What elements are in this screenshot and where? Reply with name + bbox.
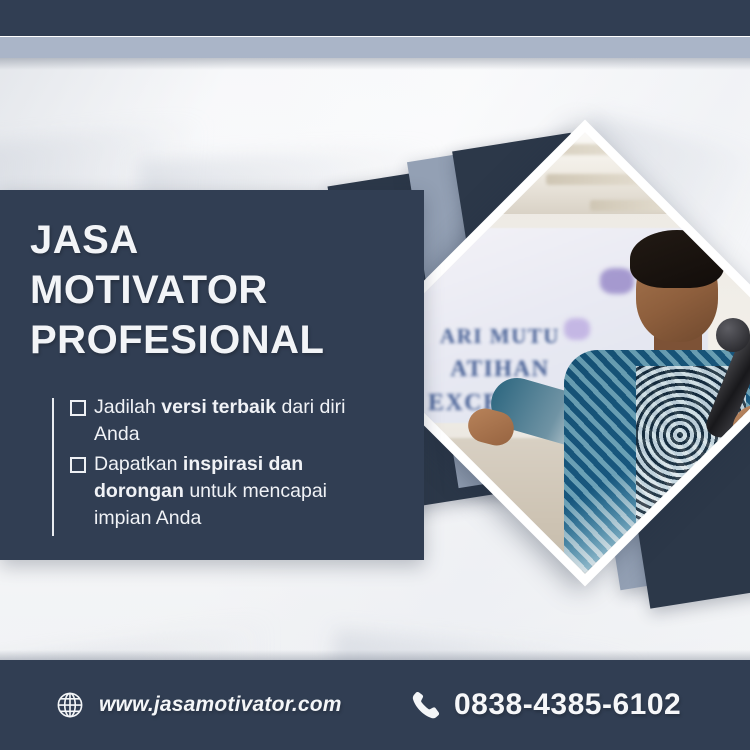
globe-icon xyxy=(55,690,85,720)
list-item-text: Dapatkan inspirasi dan dorongan untuk me… xyxy=(94,451,370,532)
phone-number[interactable]: 0838-4385-6102 xyxy=(454,688,681,722)
list-item: Dapatkan inspirasi dan dorongan untuk me… xyxy=(70,451,370,532)
checkbox-square-icon xyxy=(70,457,86,473)
page-title: JASA MOTIVATOR PROFESIONAL xyxy=(30,215,410,365)
top-dark-band xyxy=(0,0,750,36)
website-contact[interactable]: www.jasamotivator.com xyxy=(55,690,342,720)
footer-shadow xyxy=(0,650,750,660)
contact-footer: www.jasamotivator.com 0838-4385-6102 xyxy=(0,660,750,750)
phone-icon xyxy=(410,689,442,721)
bullet-accent-line xyxy=(52,398,54,536)
promotional-banner: ARI MUTU ATIHAN EXCELLEN JASA MOTIVATOR … xyxy=(0,0,750,750)
microphone-head xyxy=(716,318,750,352)
website-url[interactable]: www.jasamotivator.com xyxy=(99,693,342,717)
headline-line-3: PROFESIONAL xyxy=(30,315,410,365)
phone-contact[interactable]: 0838-4385-6102 xyxy=(410,688,681,722)
photo-confetti xyxy=(600,268,634,294)
list-item-text: Jadilah versi terbaik dari diri Anda xyxy=(94,394,370,448)
list-item: Jadilah versi terbaik dari diri Anda xyxy=(70,394,370,448)
headline-line-2: MOTIVATOR xyxy=(30,265,410,315)
checkbox-square-icon xyxy=(70,400,86,416)
top-band-shadow xyxy=(0,58,750,70)
top-light-band xyxy=(0,37,750,58)
headline-line-1: JASA xyxy=(30,215,410,265)
benefit-list: Jadilah versi terbaik dari diri Anda Dap… xyxy=(70,394,370,535)
